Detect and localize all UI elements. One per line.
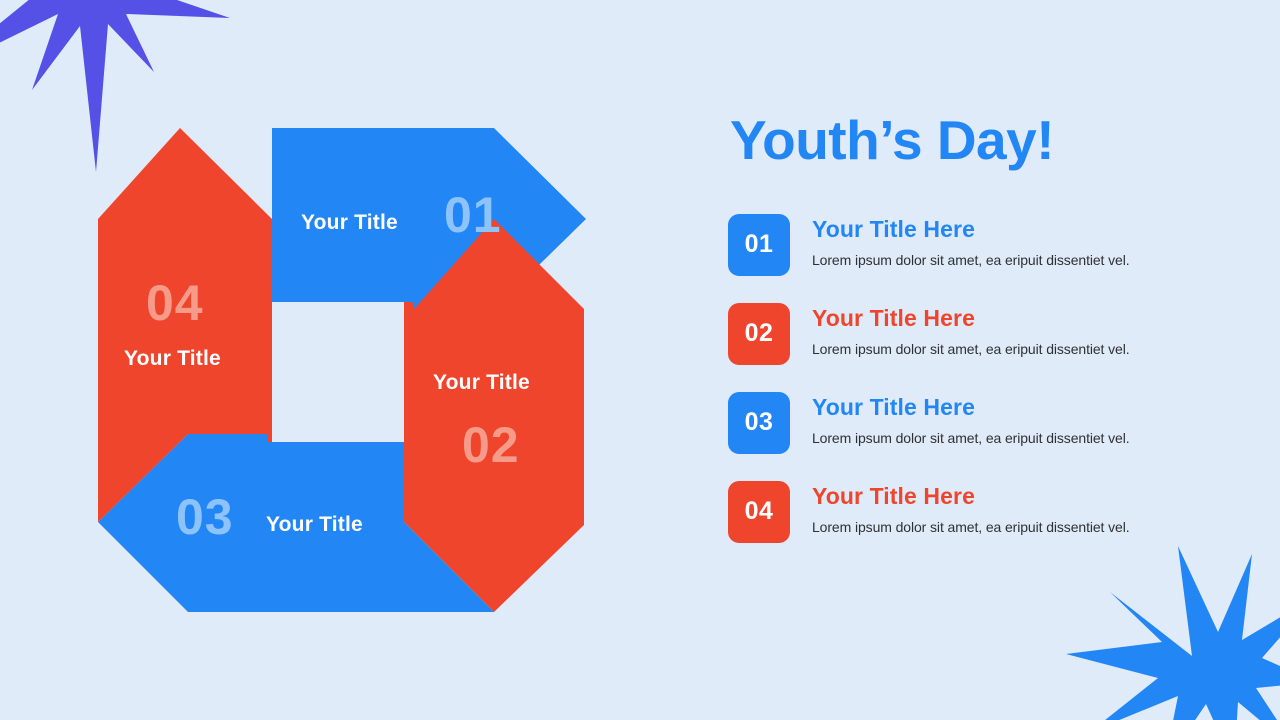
badge-01: 01: [728, 214, 790, 276]
badge-04: 04: [728, 481, 790, 543]
list-item-description: Lorem ipsum dolor sit amet, ea eripuit d…: [812, 340, 1130, 358]
list-item-description: Lorem ipsum dolor sit amet, ea eripuit d…: [812, 518, 1130, 536]
list-item-body: Your Title Here Lorem ipsum dolor sit am…: [812, 214, 1130, 269]
list-item-01[interactable]: 01 Your Title Here Lorem ipsum dolor sit…: [728, 214, 1198, 276]
slide-canvas: Your Title 01 Your Title 02 Your Title 0…: [0, 0, 1280, 720]
badge-03: 03: [728, 392, 790, 454]
pinwheel-center-hole: [272, 302, 404, 442]
content-panel: Youth’s Day! 01 Your Title Here Lorem ip…: [728, 112, 1198, 543]
list-item-title: Your Title Here: [812, 393, 1130, 422]
list-item-title: Your Title Here: [812, 215, 1130, 244]
list-item-title: Your Title Here: [812, 304, 1130, 333]
list-item-03[interactable]: 03 Your Title Here Lorem ipsum dolor sit…: [728, 392, 1198, 454]
list-item-description: Lorem ipsum dolor sit amet, ea eripuit d…: [812, 429, 1130, 447]
star-burst-blue-icon: [1066, 536, 1280, 720]
feature-list: 01 Your Title Here Lorem ipsum dolor sit…: [728, 214, 1198, 543]
list-item-description: Lorem ipsum dolor sit amet, ea eripuit d…: [812, 251, 1130, 269]
list-item-title: Your Title Here: [812, 482, 1130, 511]
badge-02: 02: [728, 303, 790, 365]
list-item-body: Your Title Here Lorem ipsum dolor sit am…: [812, 303, 1130, 358]
list-item-body: Your Title Here Lorem ipsum dolor sit am…: [812, 481, 1130, 536]
page-title: Youth’s Day!: [730, 112, 1198, 170]
list-item-04[interactable]: 04 Your Title Here Lorem ipsum dolor sit…: [728, 481, 1198, 543]
list-item-02[interactable]: 02 Your Title Here Lorem ipsum dolor sit…: [728, 303, 1198, 365]
pinwheel-diagram: Your Title 01 Your Title 02 Your Title 0…: [96, 126, 586, 612]
list-item-body: Your Title Here Lorem ipsum dolor sit am…: [812, 392, 1130, 447]
